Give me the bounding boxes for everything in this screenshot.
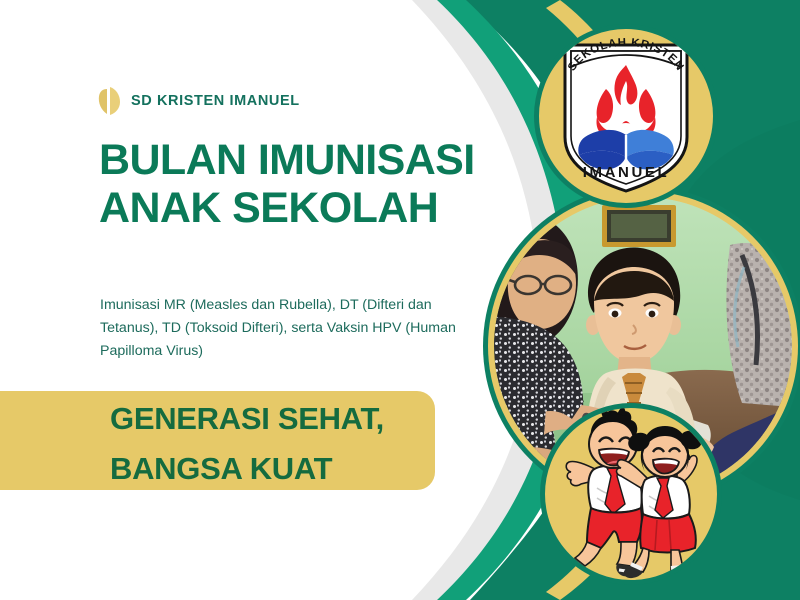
- crest-bottom-text: IMANUEL: [583, 164, 670, 181]
- headline-line-2: ANAK SEKOLAH: [99, 184, 529, 232]
- cheering-schoolchildren-circle: [540, 403, 722, 585]
- tagline-line-2: BANGSA KUAT: [110, 444, 510, 494]
- poster-canvas: SEKOLAH KRISTEN IMANUEL: [0, 0, 800, 600]
- page-title: BULAN IMUNISASI ANAK SEKOLAH: [99, 136, 529, 232]
- school-crest-icon: SEKOLAH KRISTEN IMANUEL: [551, 37, 701, 195]
- tagline: GENERASI SEHAT, BANGSA KUAT: [110, 394, 510, 494]
- school-logo-medallion: SEKOLAH KRISTEN IMANUEL: [534, 24, 718, 208]
- cheering-schoolchildren-icon: [545, 408, 717, 580]
- brand-lockup: SD KRISTEN IMANUEL: [96, 86, 300, 116]
- leaf-icon: [96, 86, 122, 116]
- tagline-line-1: GENERASI SEHAT,: [110, 401, 384, 436]
- headline-line-1: BULAN IMUNISASI: [99, 136, 475, 184]
- brand-name: SD KRISTEN IMANUEL: [131, 93, 300, 109]
- description-text: Imunisasi MR (Measles dan Rubella), DT (…: [100, 294, 472, 363]
